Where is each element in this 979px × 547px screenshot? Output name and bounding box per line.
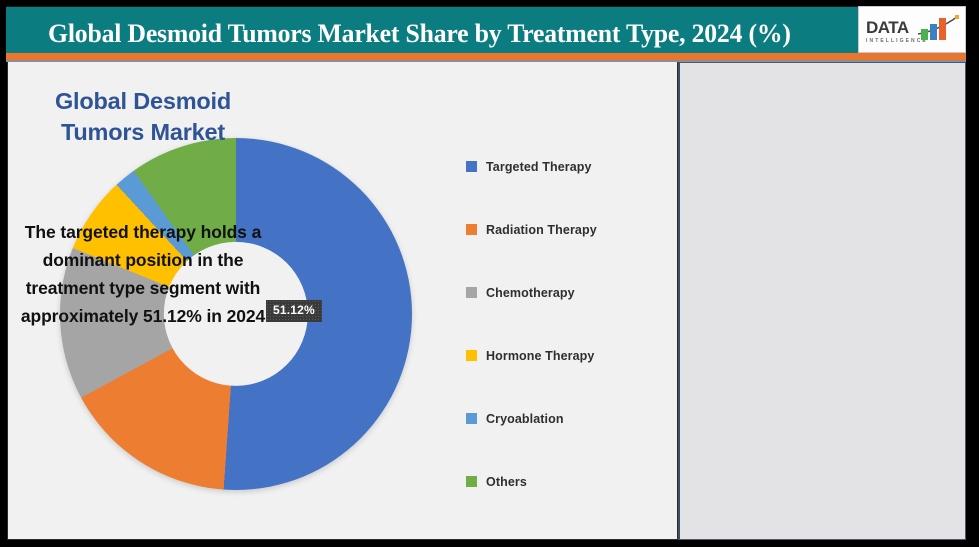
page-title: Global Desmoid Tumors Market Share by Tr… <box>48 18 855 50</box>
legend-swatch-icon <box>466 413 477 424</box>
logo-tagline: INTELLIGENCE <box>866 38 928 44</box>
legend-swatch-icon <box>466 476 477 487</box>
legend-swatch-icon <box>466 287 477 298</box>
legend-label: Targeted Therapy <box>486 160 592 174</box>
legend-label: Hormone Therapy <box>486 349 594 363</box>
legend-swatch-icon <box>466 224 477 235</box>
legend-swatch-icon <box>466 350 477 361</box>
info-pane-title: Global Desmoid Tumors Market <box>16 86 270 148</box>
header-accent-bar <box>6 53 966 60</box>
info-pane-body: The targeted therapy holds a dominant po… <box>10 218 276 330</box>
logo-bar-green-icon <box>921 29 928 40</box>
logo-bar-orange-icon <box>939 18 946 40</box>
legend-label: Radiation Therapy <box>486 223 597 237</box>
legend-item-others[interactable]: Others <box>466 450 666 513</box>
logo-dot-icon <box>955 15 959 19</box>
legend-item-hormone-therapy[interactable]: Hormone Therapy <box>466 324 666 387</box>
legend-swatch-icon <box>466 161 477 172</box>
legend-label: Chemotherapy <box>486 286 575 300</box>
legend-label: Cryoablation <box>486 412 564 426</box>
logo-bar-blue-icon <box>930 24 937 40</box>
infographic-root: Global Desmoid Tumors Market Share by Tr… <box>0 0 979 547</box>
legend-label: Others <box>486 475 527 489</box>
legend-item-cryoablation[interactable]: Cryoablation <box>466 387 666 450</box>
legend-item-radiation-therapy[interactable]: Radiation Therapy <box>466 198 666 261</box>
header-band: Global Desmoid Tumors Market Share by Tr… <box>6 6 966 53</box>
brand-logo: DATA INTELLIGENCE <box>858 6 966 53</box>
logo-wordmark: DATA <box>866 18 909 38</box>
legend-item-chemotherapy[interactable]: Chemotherapy <box>466 261 666 324</box>
info-pane <box>680 62 966 540</box>
chart-legend: Targeted Therapy Radiation Therapy Chemo… <box>466 135 666 513</box>
legend-item-targeted-therapy[interactable]: Targeted Therapy <box>466 135 666 198</box>
